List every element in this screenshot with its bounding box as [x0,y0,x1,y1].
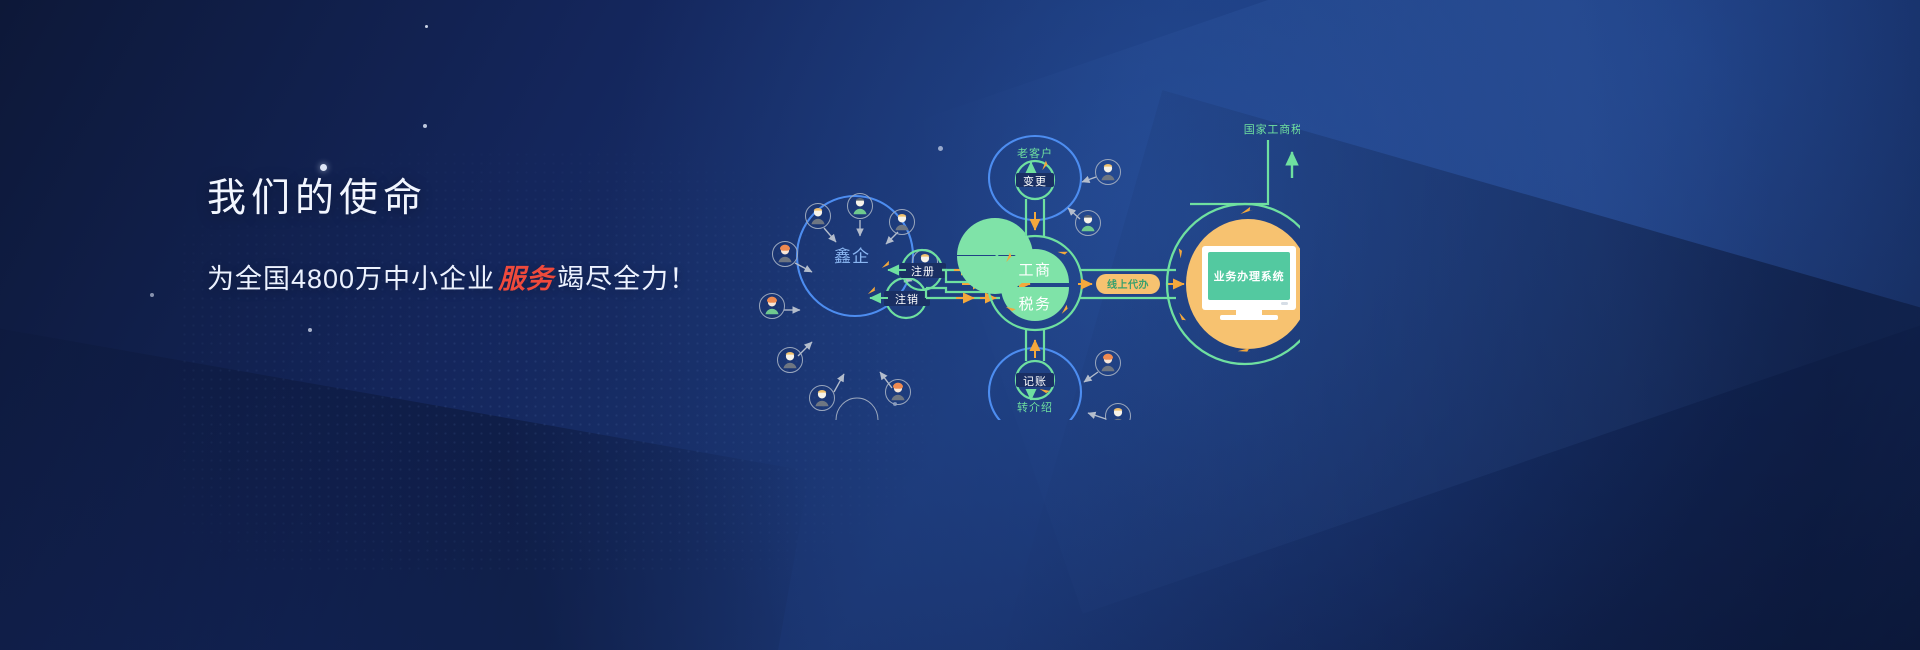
hero-subtitle-after: 竭尽全力！ [557,264,697,294]
national-system-label: 国家工商税务系统 [1244,122,1300,136]
old-customer-avatar [1096,160,1121,185]
monitor-icon [1202,246,1296,320]
decorative-star [320,164,327,171]
bookkeeping-label: 记账 [1023,375,1047,388]
hero-subtitle-highlight: 服务 [495,264,557,294]
decorative-star [423,124,427,128]
background-shadow-sweep-left [0,315,810,650]
hero-banner: 我们的使命 为全国4800万中小企业服务竭尽全力！ [0,0,1920,650]
more-clients-label: · · · · · · [847,419,867,420]
business-admin-label: 工商 [1018,262,1051,279]
change-label: 变更 [1023,174,1047,188]
client-pool-label: 鑫企 [834,247,870,266]
tax-label: 税务 [1018,296,1051,313]
old-customer-avatar [1076,211,1101,236]
register-label: 注册 [911,264,935,278]
more-clients-placeholder [836,398,878,420]
old-customer-arrows [1068,177,1096,219]
decorative-star [308,328,312,332]
online-agent-label: 线上代办 [1107,278,1149,291]
old-customer-label: 老客户 [1017,146,1053,160]
decorative-star [425,25,428,28]
decorative-star [150,293,154,297]
hero-subtitle-before: 为全国4800万中小企业 [207,264,495,294]
referral-label: 转介绍 [1017,400,1053,414]
referral-avatar [1096,351,1121,376]
deregister-label: 注销 [895,292,919,306]
service-system-label: 业务办理系统 [1214,269,1285,283]
business-flow-diagram: 鑫企 · · · · · · [740,120,1300,420]
referral-avatar [1106,404,1131,421]
referral-arrows [1084,372,1106,419]
